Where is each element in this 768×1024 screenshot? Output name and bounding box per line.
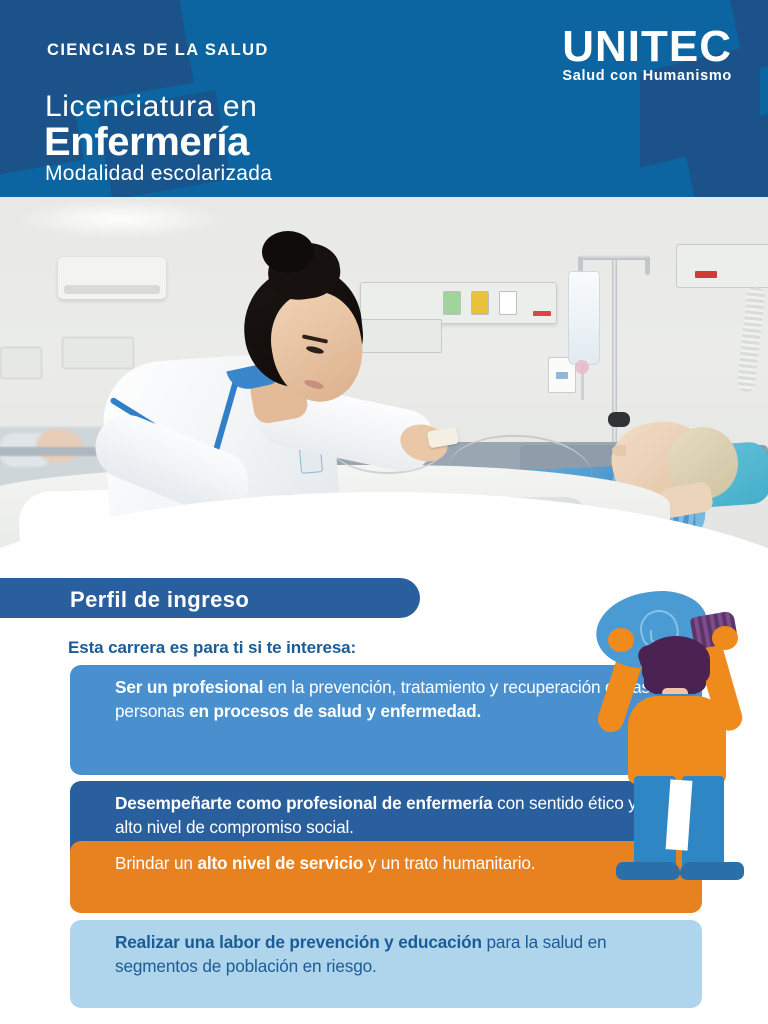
- illustration-left-shoe: [616, 862, 680, 880]
- rail-switch-yellow: [471, 291, 489, 315]
- illustration-torso: [628, 696, 726, 784]
- wall-medical-rail: [360, 282, 557, 324]
- section-title-banner: Perfil de ingreso: [0, 578, 420, 618]
- unitec-logo: UNITEC Salud con Humanismo: [562, 24, 732, 84]
- wall-monitor-panel: [676, 244, 768, 288]
- wall-monitor-indicator: [695, 271, 717, 278]
- coiled-cable: [737, 286, 766, 392]
- background-mannequin-head: [36, 429, 82, 463]
- profile-card-4: Realizar una labor de prevención y educa…: [70, 920, 702, 1008]
- background-wall-panel-1: [62, 337, 134, 369]
- profile-card-4-text: Realizar una labor de prevención y educa…: [115, 931, 684, 978]
- illustration-left-hand: [608, 628, 634, 652]
- degree-name: Enfermería: [44, 120, 249, 165]
- rail-indicator-red: [533, 311, 551, 316]
- logo-tagline: Salud con Humanismo: [562, 68, 732, 84]
- degree-modality: Modalidad escolarizada: [45, 162, 272, 186]
- rail-switch-white: [499, 291, 517, 315]
- nurse-hair-bun-knot: [262, 231, 314, 273]
- sensor-wire-upper: [447, 431, 594, 477]
- illustration-right-shoe: [680, 862, 744, 880]
- rail-switch-green: [443, 291, 461, 315]
- iv-pole-hook-right: [645, 257, 650, 275]
- hero-photo: [0, 197, 768, 562]
- section-lead-text: Esta carrera es para ti si te interesa:: [68, 638, 356, 658]
- iv-pole-clamp: [608, 412, 630, 427]
- poster-page: CIENCIAS DE LA SALUD Licenciatura en Enf…: [0, 0, 768, 1024]
- hero-photo-image: [0, 197, 768, 562]
- logo-wordmark: UNITEC: [562, 24, 732, 70]
- air-conditioner-unit: [58, 257, 166, 299]
- degree-prefix: Licenciatura en: [45, 90, 257, 124]
- iv-pole-crossbar: [578, 255, 650, 260]
- header-banner: CIENCIAS DE LA SALUD Licenciatura en Enf…: [0, 0, 768, 197]
- iv-fluid-bag: [568, 271, 600, 365]
- faculty-kicker: CIENCIAS DE LA SALUD: [47, 41, 269, 60]
- lightbulb-person-illustration: [588, 584, 768, 884]
- illustration-right-hand: [712, 626, 738, 650]
- mannequin-nose: [612, 445, 626, 456]
- iv-port: [575, 360, 589, 374]
- background-wall-panel-2: [0, 347, 42, 379]
- section-title: Perfil de ingreso: [70, 587, 249, 613]
